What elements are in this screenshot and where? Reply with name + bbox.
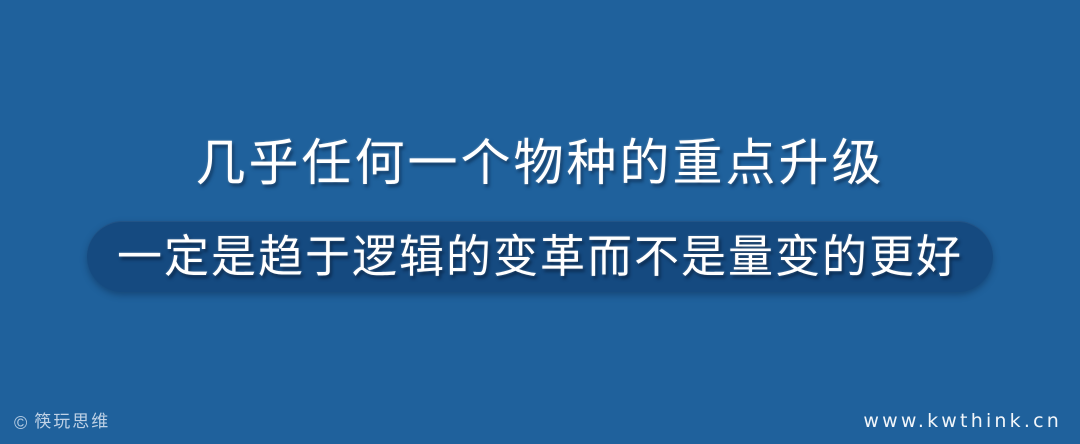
site-url[interactable]: www.kwthink.cn <box>863 410 1062 432</box>
footer-watermark: © 筷玩思维 <box>14 413 110 432</box>
subheadline-row: 一定是趋于逻辑的变革而不是量变的更好 <box>0 221 1080 292</box>
subheadline-pill: 一定是趋于逻辑的变革而不是量变的更好 <box>87 221 993 292</box>
quote-banner: 几乎任何一个物种的重点升级 一定是趋于逻辑的变革而不是量变的更好 © 筷玩思维 … <box>0 0 1080 444</box>
copyright-icon: © <box>14 414 27 432</box>
headline-row: 几乎任何一个物种的重点升级 <box>0 132 1080 194</box>
footer-url-area: www.kwthink.cn <box>863 411 1062 432</box>
brand-name: 筷玩思维 <box>34 413 110 432</box>
headline-line-1: 几乎任何一个物种的重点升级 <box>196 132 885 194</box>
subheadline-line-2: 一定是趋于逻辑的变革而不是量变的更好 <box>117 221 963 292</box>
